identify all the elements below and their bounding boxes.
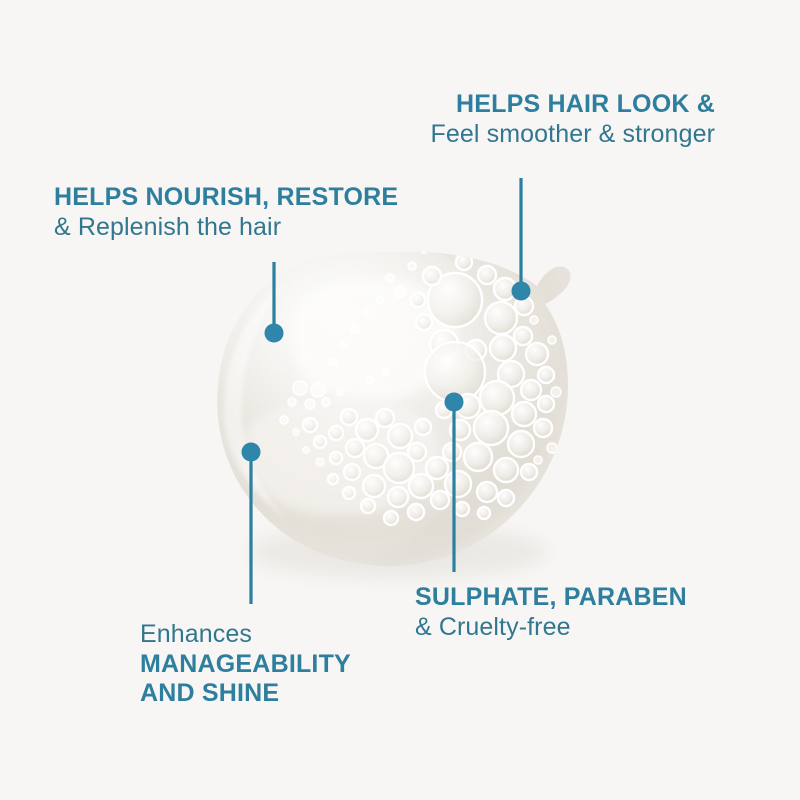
callout-top-right-subline: Feel smoother & stronger	[431, 120, 715, 150]
callout-top-right-headline: HELPS HAIR LOOK &	[431, 90, 715, 120]
callout-top-left: HELPS NOURISH, RESTORE & Replenish the h…	[54, 183, 398, 242]
callout-bottom-left: Enhances MANAGEABILITY AND SHINE	[140, 620, 351, 709]
callout-bottom-right-subline: & Cruelty-free	[415, 613, 687, 643]
callout-bottom-right-headline: SULPHATE, PARABEN	[415, 583, 687, 613]
callout-top-left-headline: HELPS NOURISH, RESTORE	[54, 183, 398, 213]
callout-top-left-subline: & Replenish the hair	[54, 213, 398, 243]
callout-top-right: HELPS HAIR LOOK & Feel smoother & strong…	[431, 90, 715, 149]
callout-bottom-left-line2: MANAGEABILITY	[140, 650, 351, 680]
callout-bottom-left-line1: Enhances	[140, 620, 351, 650]
callout-bottom-left-line3: AND SHINE	[140, 679, 351, 709]
infographic-canvas: HELPS HAIR LOOK & Feel smoother & strong…	[0, 0, 800, 800]
callout-bottom-right: SULPHATE, PARABEN & Cruelty-free	[415, 583, 687, 642]
